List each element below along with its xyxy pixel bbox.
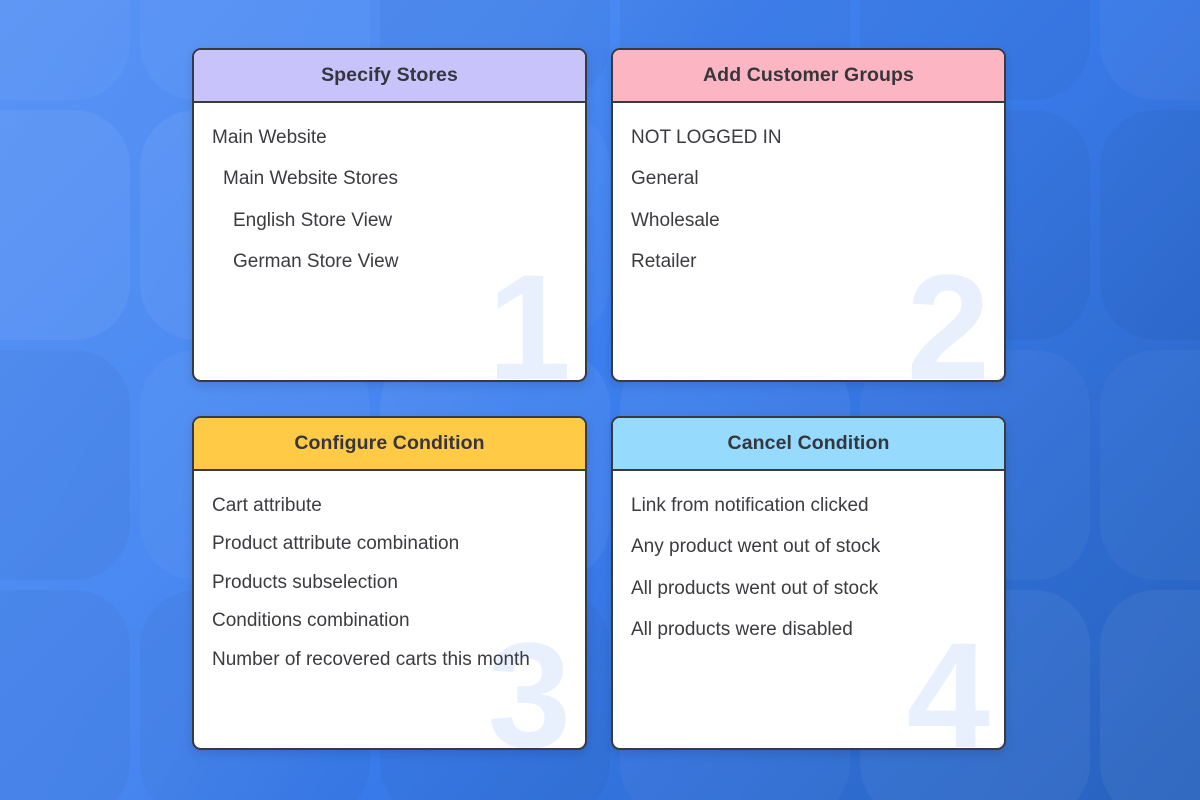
card-title: Specify Stores [321,66,458,86]
list-item[interactable]: Conditions combination [212,608,567,633]
list-item[interactable]: NOT LOGGED IN [631,125,986,150]
card-specify-stores: Specify Stores1Main WebsiteMain Website … [192,48,587,382]
list-item[interactable]: Products subselection [212,570,567,595]
card-item-list: Cart attributeProduct attribute combinat… [212,493,567,672]
card-configure-condition: Configure Condition3Cart attributeProduc… [192,416,587,750]
list-item[interactable]: Main Website [212,125,567,150]
list-item[interactable]: All products were disabled [631,617,986,642]
card-title: Configure Condition [294,434,484,454]
list-item[interactable]: Main Website Stores [212,166,567,191]
list-item[interactable]: Wholesale [631,208,986,233]
list-item[interactable]: Product attribute combination [212,531,567,556]
list-item[interactable]: Any product went out of stock [631,534,986,559]
card-header: Add Customer Groups [613,50,1004,103]
card-body: 4Link from notification clickedAny produ… [613,471,1004,748]
card-header: Specify Stores [194,50,585,103]
list-item[interactable]: Number of recovered carts this month [212,647,567,672]
card-title: Cancel Condition [728,434,890,454]
card-add-customer-groups: Add Customer Groups2NOT LOGGED INGeneral… [611,48,1006,382]
card-title: Add Customer Groups [703,66,914,86]
card-body: 3Cart attributeProduct attribute combina… [194,471,585,748]
list-item[interactable]: German Store View [212,249,567,274]
card-grid: Specify Stores1Main WebsiteMain Website … [192,48,1006,750]
card-header: Configure Condition [194,418,585,471]
card-item-list: Main WebsiteMain Website StoresEnglish S… [212,125,567,275]
list-item[interactable]: All products went out of stock [631,576,986,601]
list-item[interactable]: Cart attribute [212,493,567,518]
card-item-list: Link from notification clickedAny produc… [631,493,986,643]
card-body: 2NOT LOGGED INGeneralWholesaleRetailer [613,103,1004,380]
card-body: 1Main WebsiteMain Website StoresEnglish … [194,103,585,380]
list-item[interactable]: English Store View [212,208,567,233]
list-item[interactable]: Retailer [631,249,986,274]
card-item-list: NOT LOGGED INGeneralWholesaleRetailer [631,125,986,275]
list-item[interactable]: Link from notification clicked [631,493,986,518]
card-cancel-condition: Cancel Condition4Link from notification … [611,416,1006,750]
list-item[interactable]: General [631,166,986,191]
card-header: Cancel Condition [613,418,1004,471]
